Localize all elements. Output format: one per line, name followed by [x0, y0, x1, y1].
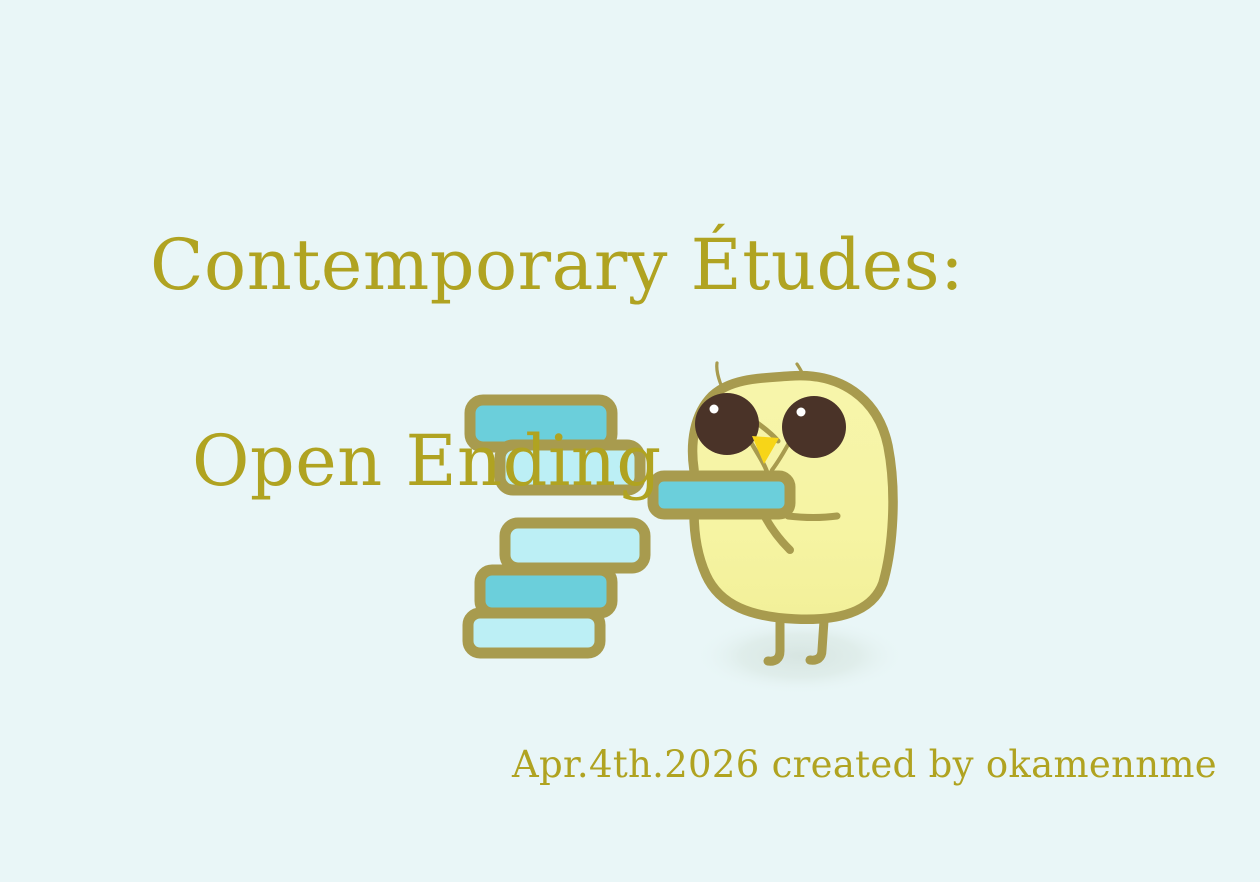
bar-5 [468, 613, 600, 653]
ground-shadow [693, 617, 907, 695]
credit-line: Apr.4th.2026 created by okamennme [512, 742, 1217, 788]
bar-5-shape [468, 613, 600, 653]
page-title: Contemporary Études: Open Ending [150, 118, 1050, 608]
slide-canvas: Contemporary Études: Open Ending Apr.4th… [0, 0, 1260, 882]
page-title-line-2: Open Ending [150, 412, 1050, 510]
page-title-line-1: Contemporary Études: [150, 216, 1050, 314]
